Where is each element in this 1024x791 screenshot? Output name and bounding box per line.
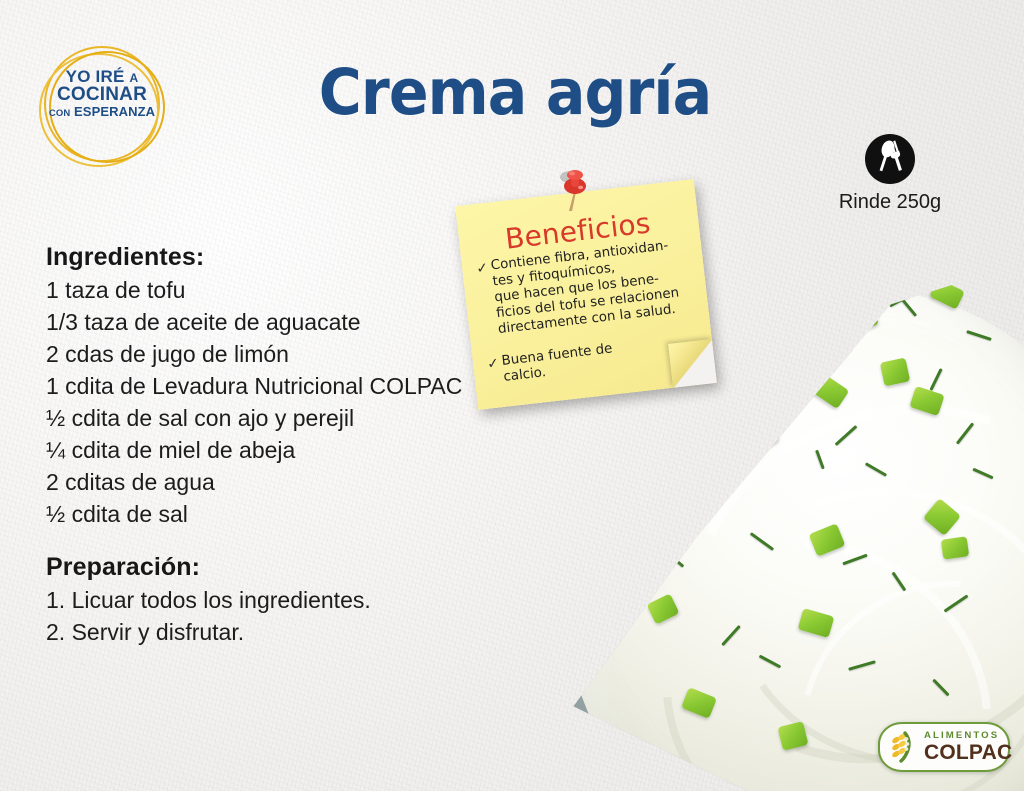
ingredient-item: 2 cditas de agua xyxy=(46,467,496,499)
pushpin-glyph xyxy=(558,168,592,212)
ingredient-item: 1 cdita de Levadura Nutricional COLPAC xyxy=(46,371,496,403)
ingredient-item: 2 cdas de jugo de limón xyxy=(46,339,496,371)
colpac-alimentos: ALIMENTOS xyxy=(924,731,1012,741)
preparation-heading: Preparación: xyxy=(46,553,496,582)
brand-logo-line1: YO IRÉ A xyxy=(38,68,166,85)
ingredient-item: ½ cdita de sal con ajo y perejil xyxy=(46,403,496,435)
benefit-item: ✓ Buena fuente de calcio. xyxy=(486,332,698,387)
benefits-sticky-note: Beneficios ✓ Contiene fibra, antioxidan-… xyxy=(455,179,717,410)
ingredients-section: Ingredientes: 1 taza de tofu 1/3 taza de… xyxy=(46,243,496,531)
chive-piece xyxy=(790,329,813,347)
colpac-main: COLPAC xyxy=(924,742,1012,763)
red-pushpin-icon xyxy=(558,168,592,212)
sticky-note-content: Beneficios ✓ Contiene fibra, antioxidan-… xyxy=(455,179,717,410)
ingredient-item: 1 taza de tofu xyxy=(46,275,496,307)
green-onion-piece xyxy=(941,536,970,559)
preparation-step: 2. Servir y disfrutar. xyxy=(46,617,496,649)
spoon-fork-icon xyxy=(865,134,915,184)
preparation-section: Preparación: 1. Licuar todos los ingredi… xyxy=(46,553,496,649)
brand-logo-text: YO IRÉ A COCINAR CON ESPERANZA xyxy=(38,68,166,118)
yield-badge: Rinde 250g xyxy=(820,134,960,214)
recipe-card: YO IRÉ A COCINAR CON ESPERANZA Crema agr… xyxy=(0,0,1024,791)
colpac-wordmark: ALIMENTOS COLPAC xyxy=(924,731,1012,763)
green-onion-piece xyxy=(710,409,745,440)
page-title: Crema agría xyxy=(315,56,715,129)
brand-logo-line3: CON ESPERANZA xyxy=(38,105,166,119)
wheat-pea-icon xyxy=(888,730,920,764)
check-icon: ✓ xyxy=(475,259,489,277)
chive-piece xyxy=(756,376,768,395)
chive-piece xyxy=(782,322,801,341)
brand-logo-line2: COCINAR xyxy=(38,85,166,104)
yield-label: Rinde 250g xyxy=(820,191,960,214)
brand-logo: YO IRÉ A COCINAR CON ESPERANZA xyxy=(38,42,166,162)
ingredients-heading: Ingredientes: xyxy=(46,243,496,272)
check-icon: ✓ xyxy=(486,354,500,372)
preparation-step: 1. Licuar todos los ingredientes. xyxy=(46,585,496,617)
ingredient-item: 1/3 taza de aceite de aguacate xyxy=(46,307,496,339)
spoon-fork-glyph xyxy=(865,134,915,184)
colpac-logo: ALIMENTOS COLPAC xyxy=(878,722,1010,772)
benefit-text: Buena fuente de calcio. xyxy=(501,341,615,385)
ingredient-item: ½ cdita de sal xyxy=(46,499,496,531)
ingredient-item: ¼ cdita de miel de abeja xyxy=(46,435,496,467)
